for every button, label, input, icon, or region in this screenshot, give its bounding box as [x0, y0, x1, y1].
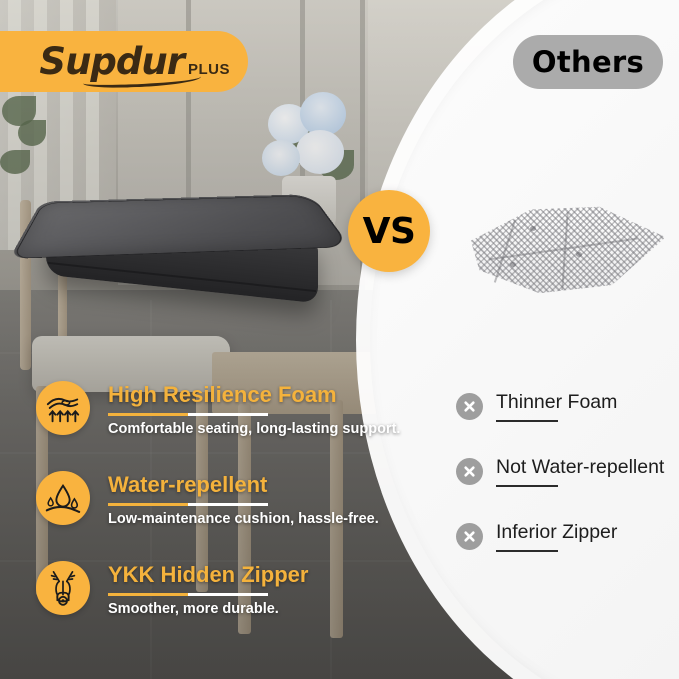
feature-text-block: YKK Hidden Zipper Smoother, more durable…: [108, 561, 308, 617]
zipper-icon: [36, 561, 90, 615]
brand-logo: Supdur PLUS: [39, 43, 230, 80]
feature-item-ykk-hidden-zipper: YKK Hidden Zipper Smoother, more durable…: [36, 561, 308, 617]
con-text-block: Not Water-repellent: [496, 456, 664, 487]
con-title: Inferior Zipper: [496, 521, 617, 543]
con-text-block: Inferior Zipper: [496, 521, 617, 552]
feature-title: YKK Hidden Zipper: [108, 563, 308, 587]
con-title: Thinner Foam: [496, 391, 617, 413]
x-mark-glyph: [461, 463, 478, 480]
brand-badge: Supdur PLUS: [0, 31, 248, 92]
con-text-block: Thinner Foam: [496, 391, 617, 422]
feature-text-block: High Resilience Foam Comfortable seating…: [108, 381, 400, 437]
feature-text-block: Water-repellent Low-maintenance cushion,…: [108, 471, 379, 527]
cushion-tuft: [530, 226, 536, 231]
feature-item-water-repellent: Water-repellent Low-maintenance cushion,…: [36, 471, 379, 527]
feature-subtitle: Low-maintenance cushion, hassle-free.: [108, 511, 379, 527]
con-item-not-water-repellent: Not Water-repellent: [456, 456, 664, 487]
vs-label: VS: [363, 211, 416, 252]
feature-title: Water-repellent: [108, 473, 379, 497]
comparison-infographic: Supdur PLUS Others VS: [0, 0, 679, 679]
water-droplet-icon: [36, 471, 90, 525]
feature-item-high-resilience-foam: High Resilience Foam Comfortable seating…: [36, 381, 400, 437]
others-label: Others: [532, 45, 644, 79]
x-circle-icon: [456, 393, 483, 420]
x-circle-icon: [456, 458, 483, 485]
con-divider: [496, 485, 558, 487]
feature-subtitle: Comfortable seating, long-lasting suppor…: [108, 421, 400, 437]
competitor-cushion-photo: [458, 196, 672, 306]
others-badge: Others: [513, 35, 663, 89]
feature-divider: [108, 593, 268, 596]
con-divider: [496, 550, 558, 552]
x-mark-glyph: [461, 398, 478, 415]
feature-divider: [108, 503, 268, 506]
cushion-tuft: [576, 252, 582, 257]
con-title: Not Water-repellent: [496, 456, 664, 478]
zipper-glyph: [44, 568, 82, 608]
feature-divider: [108, 413, 268, 416]
brand-swoosh-icon: [83, 71, 201, 89]
foam-resilience-icon: [36, 381, 90, 435]
x-mark-glyph: [461, 528, 478, 545]
x-circle-icon: [456, 523, 483, 550]
con-item-thinner-foam: Thinner Foam: [456, 391, 617, 422]
con-item-inferior-zipper: Inferior Zipper: [456, 521, 617, 552]
vs-badge: VS: [348, 190, 430, 272]
feature-title: High Resilience Foam: [108, 383, 400, 407]
water-droplet-glyph: [44, 479, 82, 517]
cushion-tuft: [510, 262, 516, 267]
foam-resilience-glyph: [44, 389, 82, 427]
supdur-cushion-photo: [22, 172, 340, 307]
feature-subtitle: Smoother, more durable.: [108, 601, 308, 617]
con-divider: [496, 420, 558, 422]
